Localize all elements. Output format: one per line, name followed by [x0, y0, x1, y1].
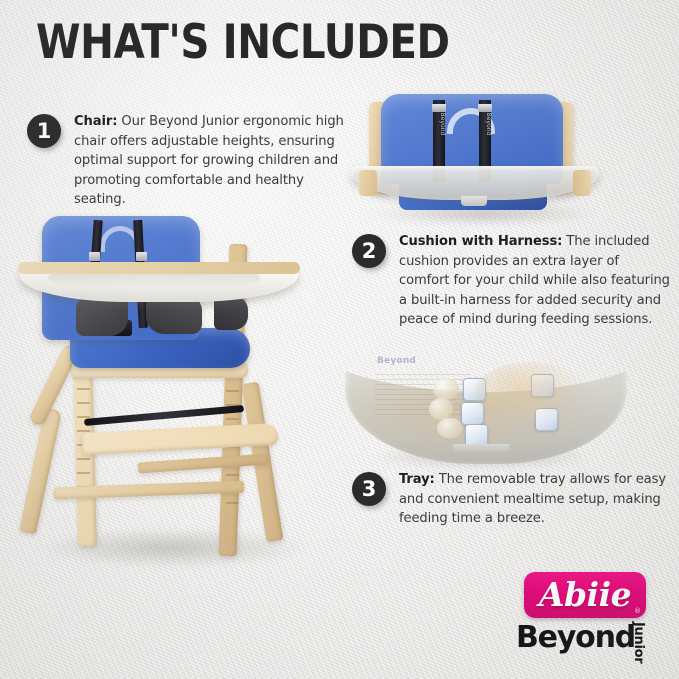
list-item-3-body: The removable tray allows for easy and c…: [399, 472, 666, 526]
list-item-1-lead: Chair:: [74, 114, 117, 129]
chair-footrest-board: [82, 423, 279, 455]
tray-front-lip: [453, 444, 509, 454]
cushion-with-harness-product-photo: Beyond Beyond: [345, 84, 627, 224]
cushion-strap-brand-label-right: Beyond: [480, 111, 492, 137]
chair-tray-wood-rim: [18, 262, 300, 274]
badge-number-2: 2: [352, 234, 386, 268]
list-item-2-lead: Cushion with Harness:: [399, 234, 562, 249]
product-line-name: Beyond: [516, 620, 635, 655]
chair-safety-bar: [84, 405, 244, 426]
removable-tray-product-photo: Beyond: [345, 344, 627, 464]
list-item-3: 3 Tray: The removable tray allows for ea…: [352, 470, 670, 529]
chair-harness-buckle-left: [89, 252, 100, 261]
tray-food-blob-2: [429, 398, 453, 420]
tray-food-blob-3: [437, 418, 463, 438]
badge-number-1: 1: [27, 114, 61, 148]
list-item-3-text: Tray: The removable tray allows for easy…: [399, 470, 670, 529]
list-item-3-lead: Tray:: [399, 472, 435, 487]
list-item-2-text: Cushion with Harness: The included cushi…: [399, 232, 670, 330]
registered-trademark-icon: ®: [634, 607, 641, 615]
tray-packaging-label: Beyond: [377, 356, 447, 372]
brand-name: Abiie: [524, 572, 646, 618]
cushion-tray-latch: [461, 196, 487, 206]
cushion-front-tray: [351, 166, 599, 200]
chair-seat-guard-right: [146, 298, 202, 334]
product-line-suffix: Junior: [631, 622, 646, 663]
chair-seat-guard-left: [76, 298, 128, 336]
infographic-page: WHAT'S INCLUDED: [0, 0, 679, 679]
tray-interior-reflection: [475, 362, 585, 424]
chair-front-leg-left: [19, 408, 62, 535]
list-item-1: 1 Chair: Our Beyond Junior ergonomic hig…: [27, 112, 345, 210]
badge-number-3: 3: [352, 472, 386, 506]
chair-harness-buckle-right: [136, 252, 147, 261]
cushion-strap-brand-label-left: Beyond: [434, 111, 446, 137]
chair-seat-guard-far-right: [214, 296, 248, 330]
cushion-tray-wood-edge-left: [359, 170, 377, 196]
brand-logo-pill: Abiie ®: [524, 572, 646, 618]
list-item-1-text: Chair: Our Beyond Junior ergonomic high …: [74, 112, 345, 210]
brand-logo: Abiie ® Beyond Junior: [506, 566, 666, 662]
chair-lower-rung-rear: [138, 453, 268, 473]
tray-food-blob-1: [433, 378, 459, 400]
cushion-tray-wood-edge-right: [573, 170, 591, 196]
chair-tray-inner-well: [48, 274, 260, 290]
page-title: WHAT'S INCLUDED: [36, 18, 450, 68]
high-chair-product-photo: [18, 212, 318, 572]
list-item-2: 2 Cushion with Harness: The included cus…: [352, 232, 670, 330]
